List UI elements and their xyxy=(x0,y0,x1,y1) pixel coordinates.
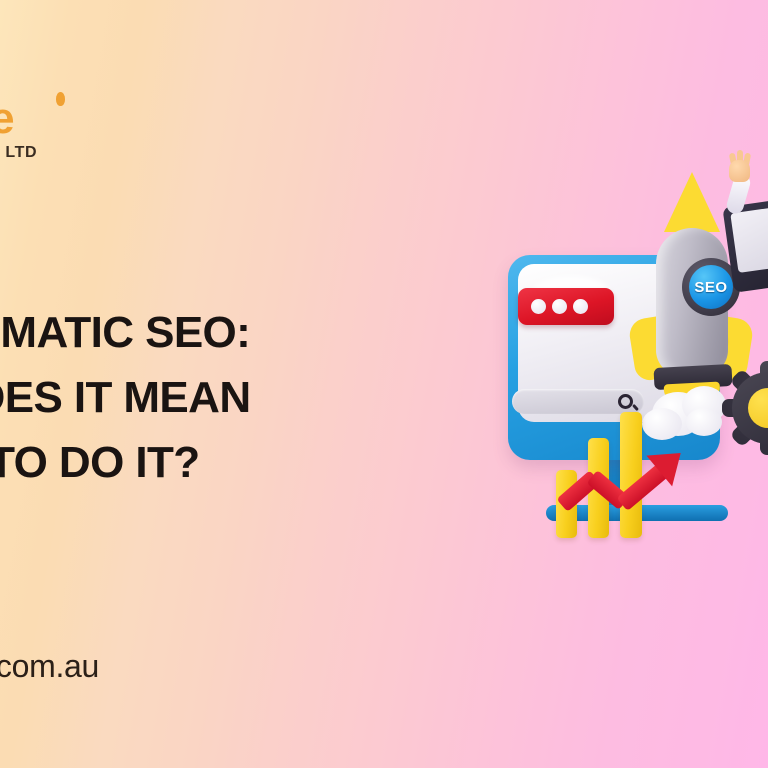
website-url: enie.com.au xyxy=(0,648,99,685)
promo-banner: enie CES PTY LTD RAMMATIC SEO: T DOES IT… xyxy=(0,0,768,768)
browser-titlebar xyxy=(518,288,614,325)
search-icon-handle xyxy=(632,404,639,411)
search-icon xyxy=(618,394,633,409)
titlebar-dot-icon xyxy=(552,299,567,314)
company-logo: enie CES PTY LTD xyxy=(0,96,168,166)
rocket-porthole: SEO xyxy=(689,265,733,309)
gear-icon xyxy=(722,362,768,454)
headline-line-2: T DOES IT MEAN xyxy=(0,365,522,430)
chart-bar xyxy=(620,412,642,538)
seo-badge-label: SEO xyxy=(694,279,727,296)
headline-line-3: OW TO DO IT? xyxy=(0,430,522,495)
logo-tagline: CES PTY LTD xyxy=(0,143,168,163)
titlebar-dot-icon xyxy=(573,299,588,314)
laptop-screen xyxy=(730,205,768,273)
headline-line-1: RAMMATIC SEO: xyxy=(0,300,522,365)
logo-wordmark: enie xyxy=(0,96,168,142)
headline: RAMMATIC SEO: T DOES IT MEAN OW TO DO IT… xyxy=(0,300,522,495)
hero-illustration: SEO xyxy=(496,150,768,590)
titlebar-dot-icon xyxy=(531,299,546,314)
exhaust-cloud-puff xyxy=(686,408,722,436)
exhaust-cloud-puff xyxy=(642,408,682,440)
browser-search-bar xyxy=(512,389,644,414)
rocket-nose-cone xyxy=(664,172,720,232)
raised-hand-icon xyxy=(729,160,750,182)
logo-flame-icon xyxy=(56,92,65,106)
